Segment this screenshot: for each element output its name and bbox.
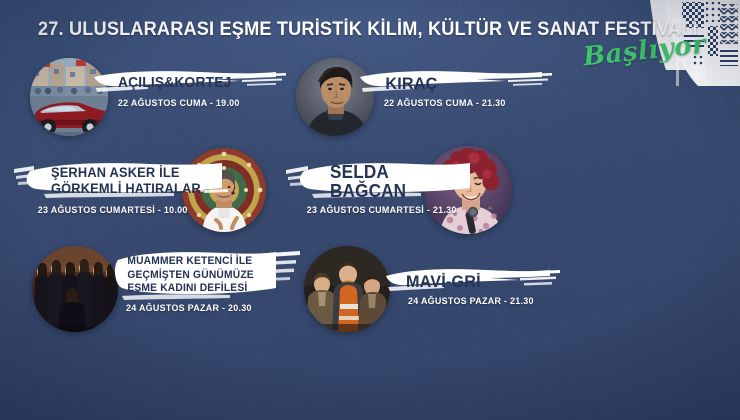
event-card[interactable]: SELDA BAĞCAN 23 AĞUSTOS CUMARTESİ - 21.3…	[286, 150, 546, 236]
event-date: 23 AĞUSTOS CUMARTESİ - 10.00	[38, 205, 188, 216]
event-name-line2: BAĞCAN	[330, 182, 406, 201]
event-card[interactable]: ŞERHAN ASKER İLE GÖRKEMLİ HATIRALAR 23 A…	[14, 150, 274, 236]
event-date: 22 AĞUSTOS CUMA - 19.00	[118, 98, 240, 109]
event-date: 22 AĞUSTOS CUMA - 21.30	[384, 98, 506, 109]
event-name: KIRAÇ	[385, 74, 437, 94]
fashion-show-models-photo	[32, 246, 118, 332]
event-name-line3: EŞME KADINI DEFİLESİ	[127, 282, 254, 296]
event-card[interactable]: KIRAÇ 22 AĞUSTOS CUMA - 21.30	[296, 58, 556, 144]
event-date: 23 AĞUSTOS CUMARTESİ - 21.30	[307, 205, 457, 216]
event-card[interactable]: MUAMMER KETENCİ İLE GEÇMİŞTEN GÜNÜMÜZE E…	[24, 244, 294, 330]
event-card[interactable]: AÇILIŞ&KORTEJ 22 AĞUSTOS CUMA - 19.00	[30, 58, 290, 144]
event-date: 24 AĞUSTOS PAZAR - 21.30	[408, 296, 534, 307]
event-name: SELDA BAĞCAN	[330, 163, 406, 201]
mavi-gri-band-photo	[304, 246, 390, 332]
event-name: MUAMMER KETENCİ İLE GEÇMİŞTEN GÜNÜMÜZE E…	[127, 255, 254, 296]
event-date: 24 AĞUSTOS PAZAR - 20.30	[126, 303, 252, 314]
page-title: 27. ULUSLARARASI EŞME TURİSTİK KİLİM, KÜ…	[38, 18, 698, 41]
event-name-line1: ŞERHAN ASKER İLE	[51, 165, 201, 181]
event-name-line1: SELDA	[330, 163, 406, 182]
event-name-line2: GEÇMİŞTEN GÜNÜMÜZE	[127, 269, 254, 283]
event-name: AÇILIŞ&KORTEJ	[118, 75, 231, 91]
event-name-line2: GÖRKEMLİ HATIRALAR	[51, 181, 201, 197]
event-name-line1: MUAMMER KETENCİ İLE	[127, 255, 254, 269]
event-card[interactable]: MAVİ-GRİ 24 AĞUSTOS PAZAR - 21.30	[296, 244, 556, 330]
festival-poster: 27. ULUSLARARASI EŞME TURİSTİK KİLİM, KÜ…	[0, 0, 740, 420]
event-name: ŞERHAN ASKER İLE GÖRKEMLİ HATIRALAR	[51, 165, 201, 196]
event-name: MAVİ-GRİ	[406, 272, 481, 292]
